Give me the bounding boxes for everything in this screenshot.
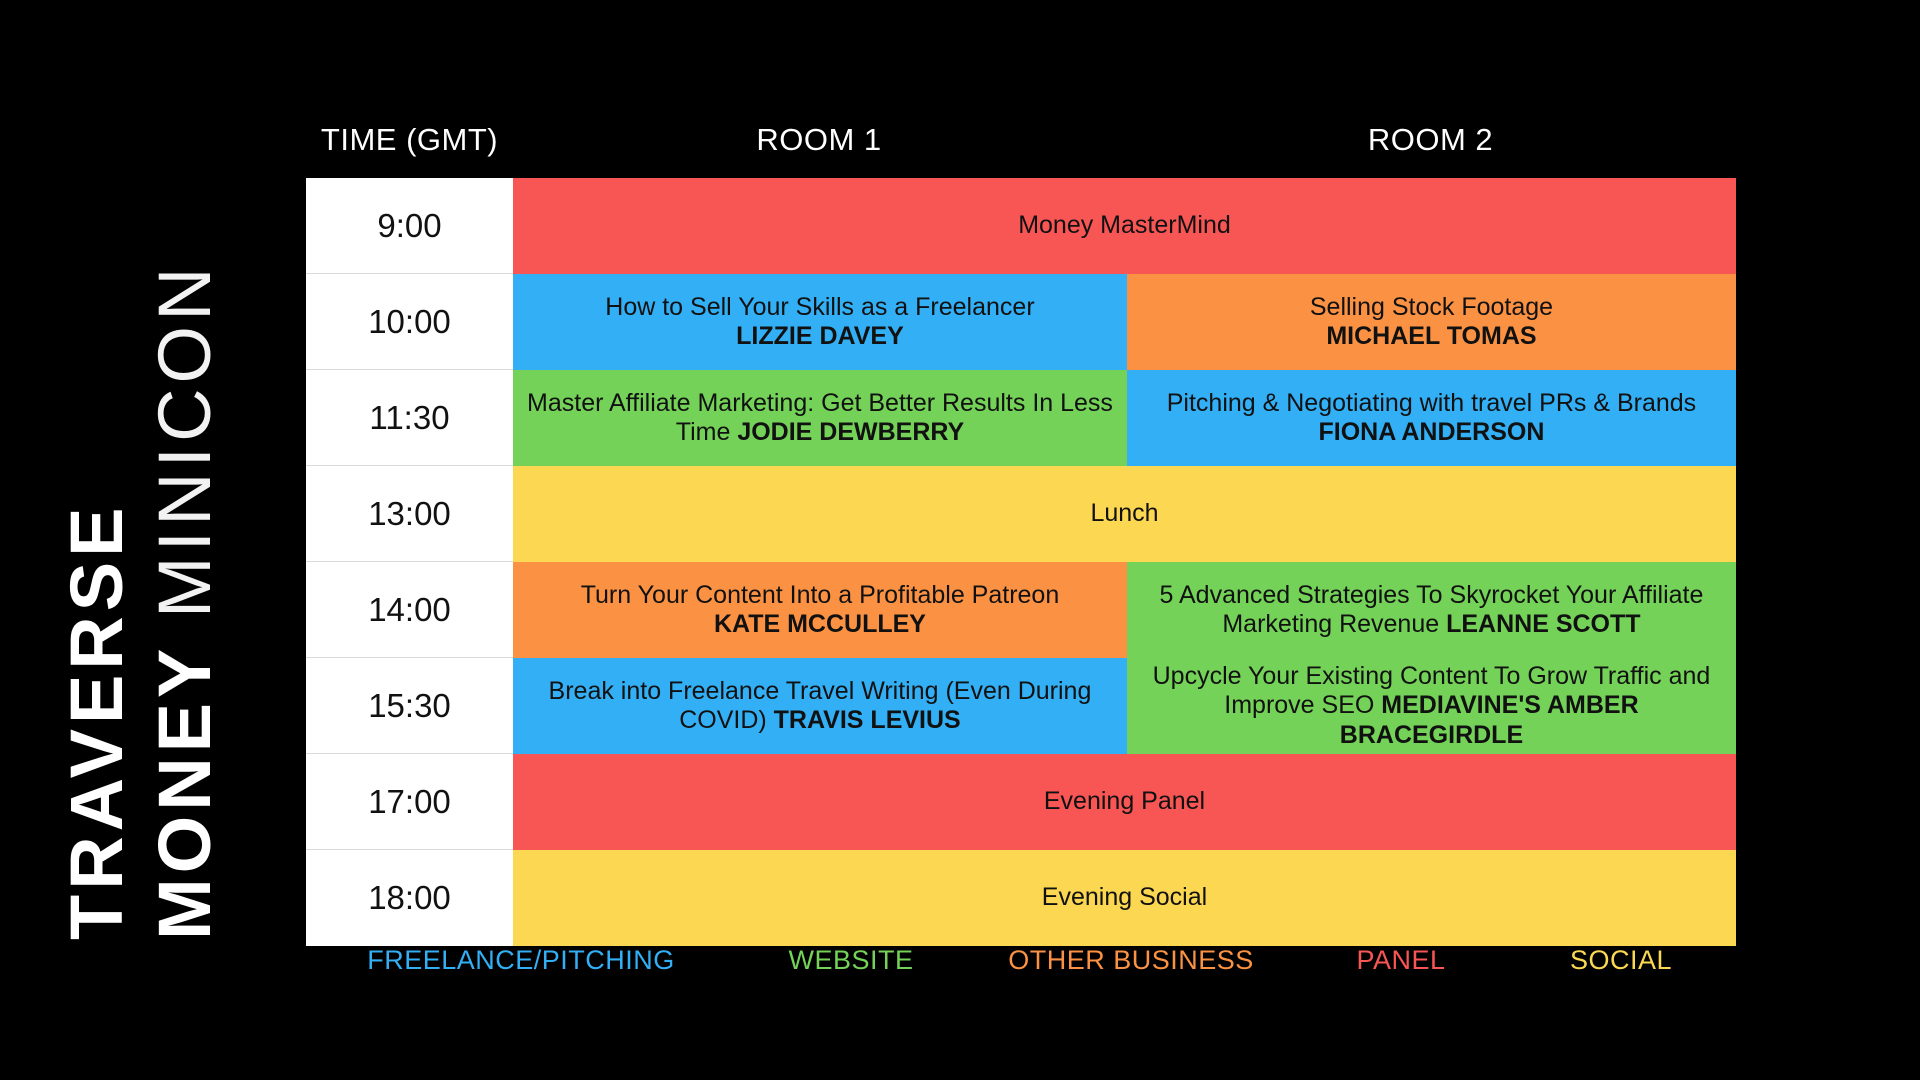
session-title: Money MasterMind [1018,211,1231,241]
session-title: How to Sell Your Skills as a Freelancer [605,293,1034,323]
schedule-row: 13:00Lunch [306,466,1736,562]
schedule-row: 14:00Turn Your Content Into a Profitable… [306,562,1736,658]
session-cell[interactable]: How to Sell Your Skills as a FreelancerL… [513,274,1127,370]
session-cell[interactable]: Evening Social [513,850,1736,946]
header-room-1: ROOM 1 [513,110,1125,170]
session-cell[interactable]: Master Affiliate Marketing: Get Better R… [513,370,1127,466]
schedule-row: 15:30Break into Freelance Travel Writing… [306,658,1736,754]
legend-item: WEBSITE [736,945,966,976]
session-title: Selling Stock Footage [1310,293,1553,323]
schedule-row: 11:30Master Affiliate Marketing: Get Bet… [306,370,1736,466]
time-cell: 13:00 [306,466,513,562]
session-speaker: JODIE DEWBERRY [737,418,964,446]
brand-money: MONEY [143,644,226,940]
legend-item: FREELANCE/PITCHING [306,945,736,976]
session-cells: How to Sell Your Skills as a FreelancerL… [513,274,1736,370]
time-cell: 9:00 [306,178,513,274]
session-speaker: LIZZIE DAVEY [736,322,904,352]
session-title: Lunch [1090,499,1158,529]
schedule-row: 10:00How to Sell Your Skills as a Freela… [306,274,1736,370]
schedule-row: 9:00Money MasterMind [306,178,1736,274]
session-cell[interactable]: Money MasterMind [513,178,1736,274]
session-cell[interactable]: Turn Your Content Into a Profitable Patr… [513,562,1127,658]
session-cells: Evening Social [513,850,1736,946]
schedule-row: 17:00Evening Panel [306,754,1736,850]
session-title: Pitching & Negotiating with travel PRs &… [1167,389,1696,419]
session-speaker: MICHAEL TOMAS [1326,322,1536,352]
session-cell[interactable]: Pitching & Negotiating with travel PRs &… [1127,370,1736,466]
session-cells: Turn Your Content Into a Profitable Patr… [513,562,1736,658]
session-title: Evening Panel [1044,787,1205,817]
session-cells: Money MasterMind [513,178,1736,274]
header-room-2: ROOM 2 [1125,110,1736,170]
schedule-row: 18:00Evening Social [306,850,1736,946]
session-speaker: MEDIAVINE'S AMBER BRACEGIRDLE [1340,691,1639,749]
schedule-poster: TRAVERSE MONEY MINICON TIME (GMT) ROOM 1… [0,0,1920,1080]
session-cell[interactable]: Upcycle Your Existing Content To Grow Tr… [1127,658,1736,754]
session-title: Evening Social [1042,883,1207,913]
session-cell[interactable]: Lunch [513,466,1736,562]
session-speaker: TRAVIS LEVIUS [774,706,961,734]
legend: FREELANCE/PITCHINGWEBSITEOTHER BUSINESSP… [306,945,1736,976]
session-cell[interactable]: Selling Stock FootageMICHAEL TOMAS [1127,274,1736,370]
time-cell: 10:00 [306,274,513,370]
time-cell: 18:00 [306,850,513,946]
brand-minicon: MINICON [143,262,226,643]
legend-item: SOCIAL [1506,945,1736,976]
time-cell: 17:00 [306,754,513,850]
session-cell[interactable]: 5 Advanced Strategies To Skyrocket Your … [1127,562,1736,658]
session-speaker: FIONA ANDERSON [1318,418,1544,448]
time-cell: 15:30 [306,658,513,754]
legend-item: PANEL [1296,945,1506,976]
session-speaker: KATE MCCULLEY [714,610,926,640]
schedule-grid: 9:00Money MasterMind10:00How to Sell You… [306,178,1736,946]
brand-traverse: TRAVERSE [60,150,134,940]
header-time: TIME (GMT) [306,110,513,170]
column-headers: TIME (GMT) ROOM 1 ROOM 2 [306,110,1736,170]
brand-money-minicon: MONEY MINICON [148,150,222,940]
session-cell[interactable]: Break into Freelance Travel Writing (Eve… [513,658,1127,754]
session-cells: Master Affiliate Marketing: Get Better R… [513,370,1736,466]
time-cell: 14:00 [306,562,513,658]
session-cell[interactable]: Evening Panel [513,754,1736,850]
legend-item: OTHER BUSINESS [966,945,1296,976]
session-title: Turn Your Content Into a Profitable Patr… [581,581,1060,611]
brand-title: TRAVERSE MONEY MINICON [60,150,310,940]
session-cells: Lunch [513,466,1736,562]
session-speaker: LEANNE SCOTT [1446,610,1640,638]
time-cell: 11:30 [306,370,513,466]
session-cells: Evening Panel [513,754,1736,850]
session-cells: Break into Freelance Travel Writing (Eve… [513,658,1736,754]
